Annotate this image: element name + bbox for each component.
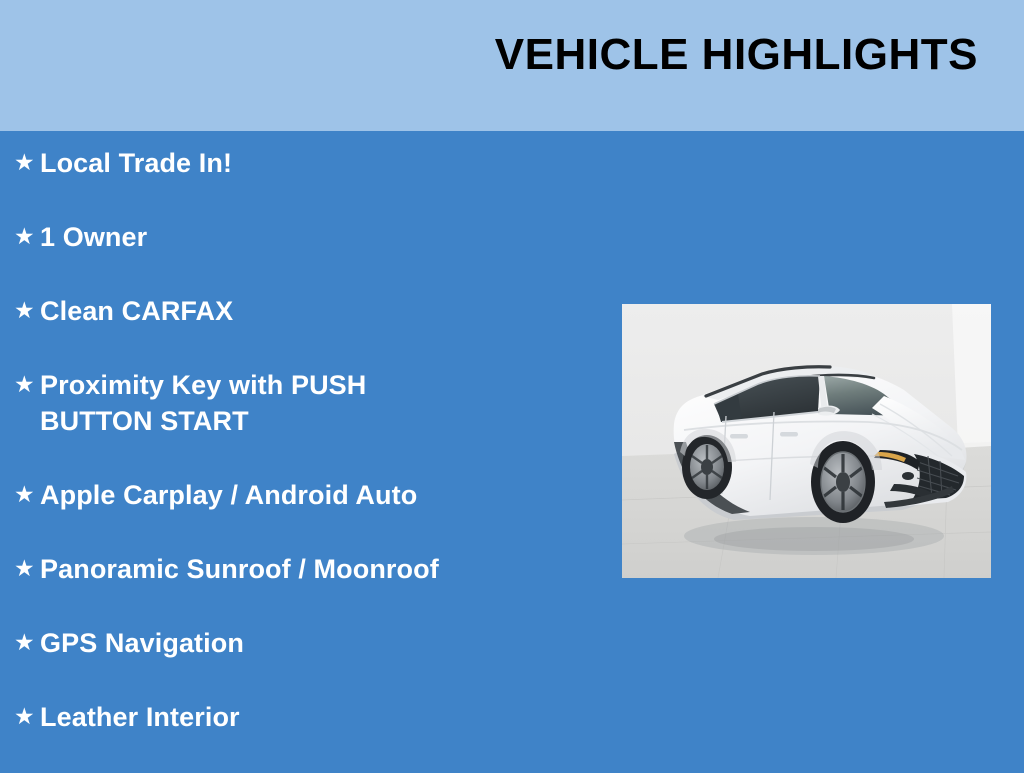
- list-item: ★ Panoramic Sunroof / Moonroof: [0, 551, 600, 587]
- list-item: ★ Clean CARFAX: [0, 293, 600, 329]
- list-item: ★ Leather Interior: [0, 699, 600, 735]
- list-item: ★ Apple Carplay / Android Auto: [0, 477, 600, 513]
- star-icon: ★: [14, 551, 40, 585]
- star-icon: ★: [14, 477, 40, 511]
- highlight-label: Leather Interior: [40, 699, 600, 735]
- highlight-label: 1 Owner: [40, 219, 600, 255]
- list-item: ★ Local Trade In!: [0, 145, 600, 181]
- page-title: VEHICLE HIGHLIGHTS: [495, 28, 978, 82]
- vehicle-highlights-slide: VEHICLE HIGHLIGHTS ★ Local Trade In! ★ 1…: [0, 0, 1024, 768]
- highlight-label: Proximity Key with PUSH BUTTON START: [40, 367, 600, 439]
- star-icon: ★: [14, 625, 40, 659]
- vehicle-photo-illustration: [622, 304, 991, 578]
- highlight-label: Clean CARFAX: [40, 293, 600, 329]
- header-band: VEHICLE HIGHLIGHTS: [0, 0, 1024, 131]
- list-item: ★ Proximity Key with PUSH BUTTON START: [0, 367, 600, 439]
- star-icon: ★: [14, 367, 40, 401]
- star-icon: ★: [14, 699, 40, 733]
- star-icon: ★: [14, 145, 40, 179]
- list-item: ★ 1 Owner: [0, 219, 600, 255]
- vehicle-photo: [622, 304, 991, 578]
- list-item: ★ GPS Navigation: [0, 625, 600, 661]
- highlight-label: Apple Carplay / Android Auto: [40, 477, 600, 513]
- highlight-label: Panoramic Sunroof / Moonroof: [40, 551, 600, 587]
- star-icon: ★: [14, 219, 40, 253]
- star-icon: ★: [14, 293, 40, 327]
- highlights-list: ★ Local Trade In! ★ 1 Owner ★ Clean CARF…: [0, 131, 600, 773]
- highlight-label: GPS Navigation: [40, 625, 600, 661]
- highlight-label: Local Trade In!: [40, 145, 600, 181]
